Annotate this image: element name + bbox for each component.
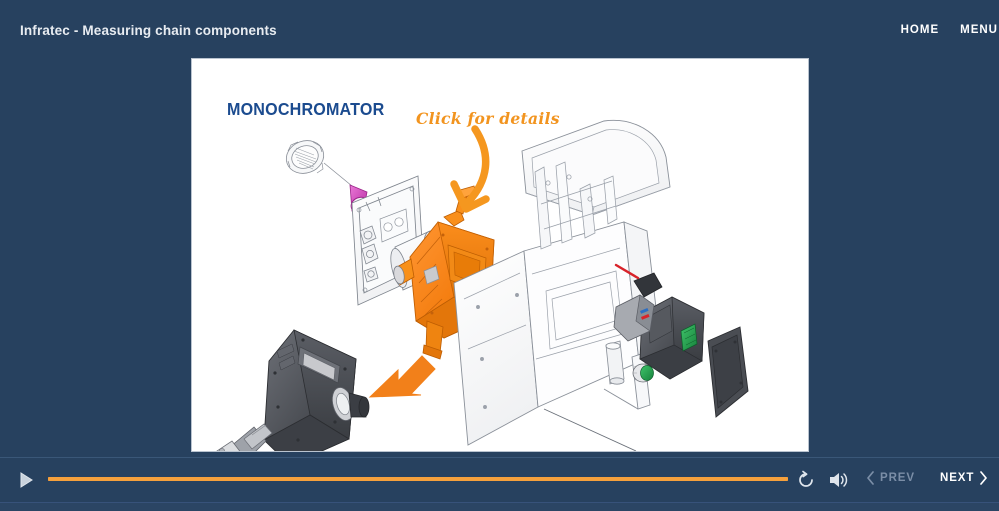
probe-assembly-part [192, 424, 272, 452]
next-button[interactable]: NEXT [940, 471, 988, 485]
progress-scrubber[interactable] [48, 477, 788, 481]
elearning-player: Infratec - Measuring chain components HO… [0, 0, 999, 511]
assembly-direction-arrow [370, 356, 435, 397]
volume-button[interactable] [827, 469, 851, 491]
diffraction-grating-part [282, 135, 329, 178]
hint-curved-arrow [454, 129, 486, 209]
prev-button[interactable]: PREV [866, 471, 915, 485]
play-icon [16, 470, 36, 490]
replay-button[interactable] [795, 469, 817, 491]
chevron-left-icon [866, 471, 875, 485]
header-nav: HOME MENU [901, 24, 999, 36]
click-for-details-hint[interactable]: Click for details [416, 109, 560, 128]
leader-line [324, 163, 352, 186]
slide-heading: MONOCHROMATOR [227, 99, 384, 120]
replay-icon [795, 469, 817, 491]
side-cover-panel-part [708, 327, 748, 417]
footer-bottom-strip [0, 502, 999, 511]
volume-icon [827, 469, 851, 491]
page-title: Infratec - Measuring chain components [20, 23, 277, 38]
nav-link-menu[interactable]: MENU [960, 24, 998, 36]
nav-link-home[interactable]: HOME [901, 24, 940, 36]
next-label: NEXT [940, 472, 974, 484]
app-header: Infratec - Measuring chain components HO… [0, 0, 999, 58]
play-button[interactable] [16, 470, 36, 490]
chevron-right-icon [979, 471, 988, 485]
progress-fill [48, 477, 788, 481]
knob-part [633, 364, 654, 382]
prev-label: PREV [880, 472, 915, 484]
slide-stage[interactable]: MONOCHROMATOR Click for details [191, 58, 809, 452]
